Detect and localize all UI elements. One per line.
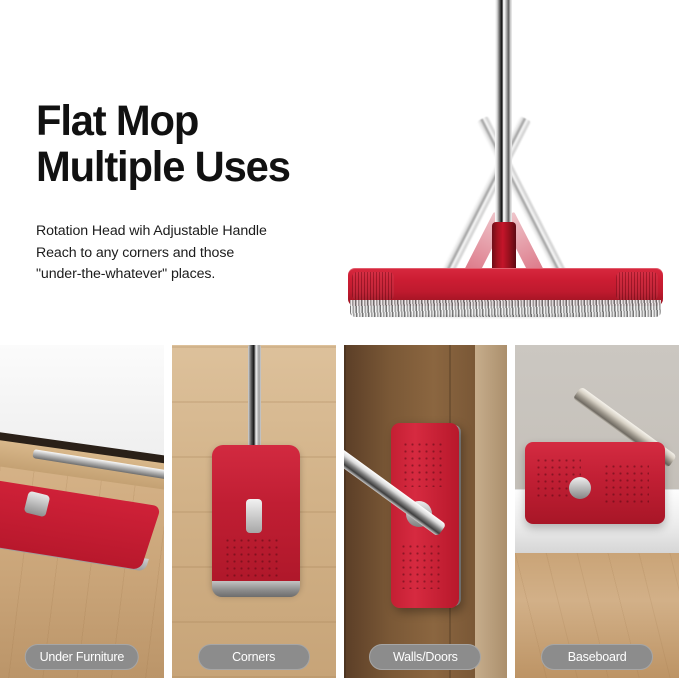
- subcopy: Rotation Head wih Adjustable Handle Reac…: [36, 221, 346, 286]
- mop-swivel-joint: [246, 499, 262, 533]
- product-feature-image: Flat Mop Multiple Uses Rotation Head wih…: [0, 0, 679, 678]
- mop-shadow: [354, 314, 656, 319]
- panel-caption-corners: Corners: [198, 644, 310, 670]
- use-case-panels: Under Furniture Corners Walls/Doors: [0, 345, 679, 678]
- mop-head-texture: [224, 537, 278, 579]
- mop-head-rib-right: [616, 272, 658, 300]
- door-jamb: [475, 345, 507, 678]
- subcopy-line-3: "under-the-whatever" places.: [36, 264, 346, 286]
- mop-head-texture-bottom: [400, 543, 442, 589]
- hero-mop-illustration: [330, 0, 679, 345]
- panel-corners: Corners: [172, 345, 336, 678]
- subcopy-line-1: Rotation Head wih Adjustable Handle: [36, 221, 346, 243]
- panel-walls-doors: Walls/Doors: [344, 345, 508, 678]
- headline-line-2: Multiple Uses: [36, 144, 366, 190]
- headline: Flat Mop Multiple Uses: [36, 98, 376, 191]
- panel-baseboard: Baseboard: [515, 345, 679, 678]
- panel-under-furniture: Under Furniture: [0, 345, 164, 678]
- mop-head-texture-top: [402, 441, 444, 487]
- headline-line-1: Flat Mop: [36, 98, 366, 144]
- panel-caption-walls-doors: Walls/Doors: [369, 644, 481, 670]
- mop-head-rib-left: [352, 272, 394, 300]
- panel-caption-under-furniture: Under Furniture: [25, 644, 140, 670]
- microfiber-pad: [212, 581, 300, 597]
- subcopy-line-2: Reach to any corners and those: [36, 243, 346, 265]
- mop-head-texture-right: [603, 463, 649, 503]
- hero-section: Flat Mop Multiple Uses Rotation Head wih…: [0, 0, 679, 345]
- panel-caption-baseboard: Baseboard: [541, 644, 653, 670]
